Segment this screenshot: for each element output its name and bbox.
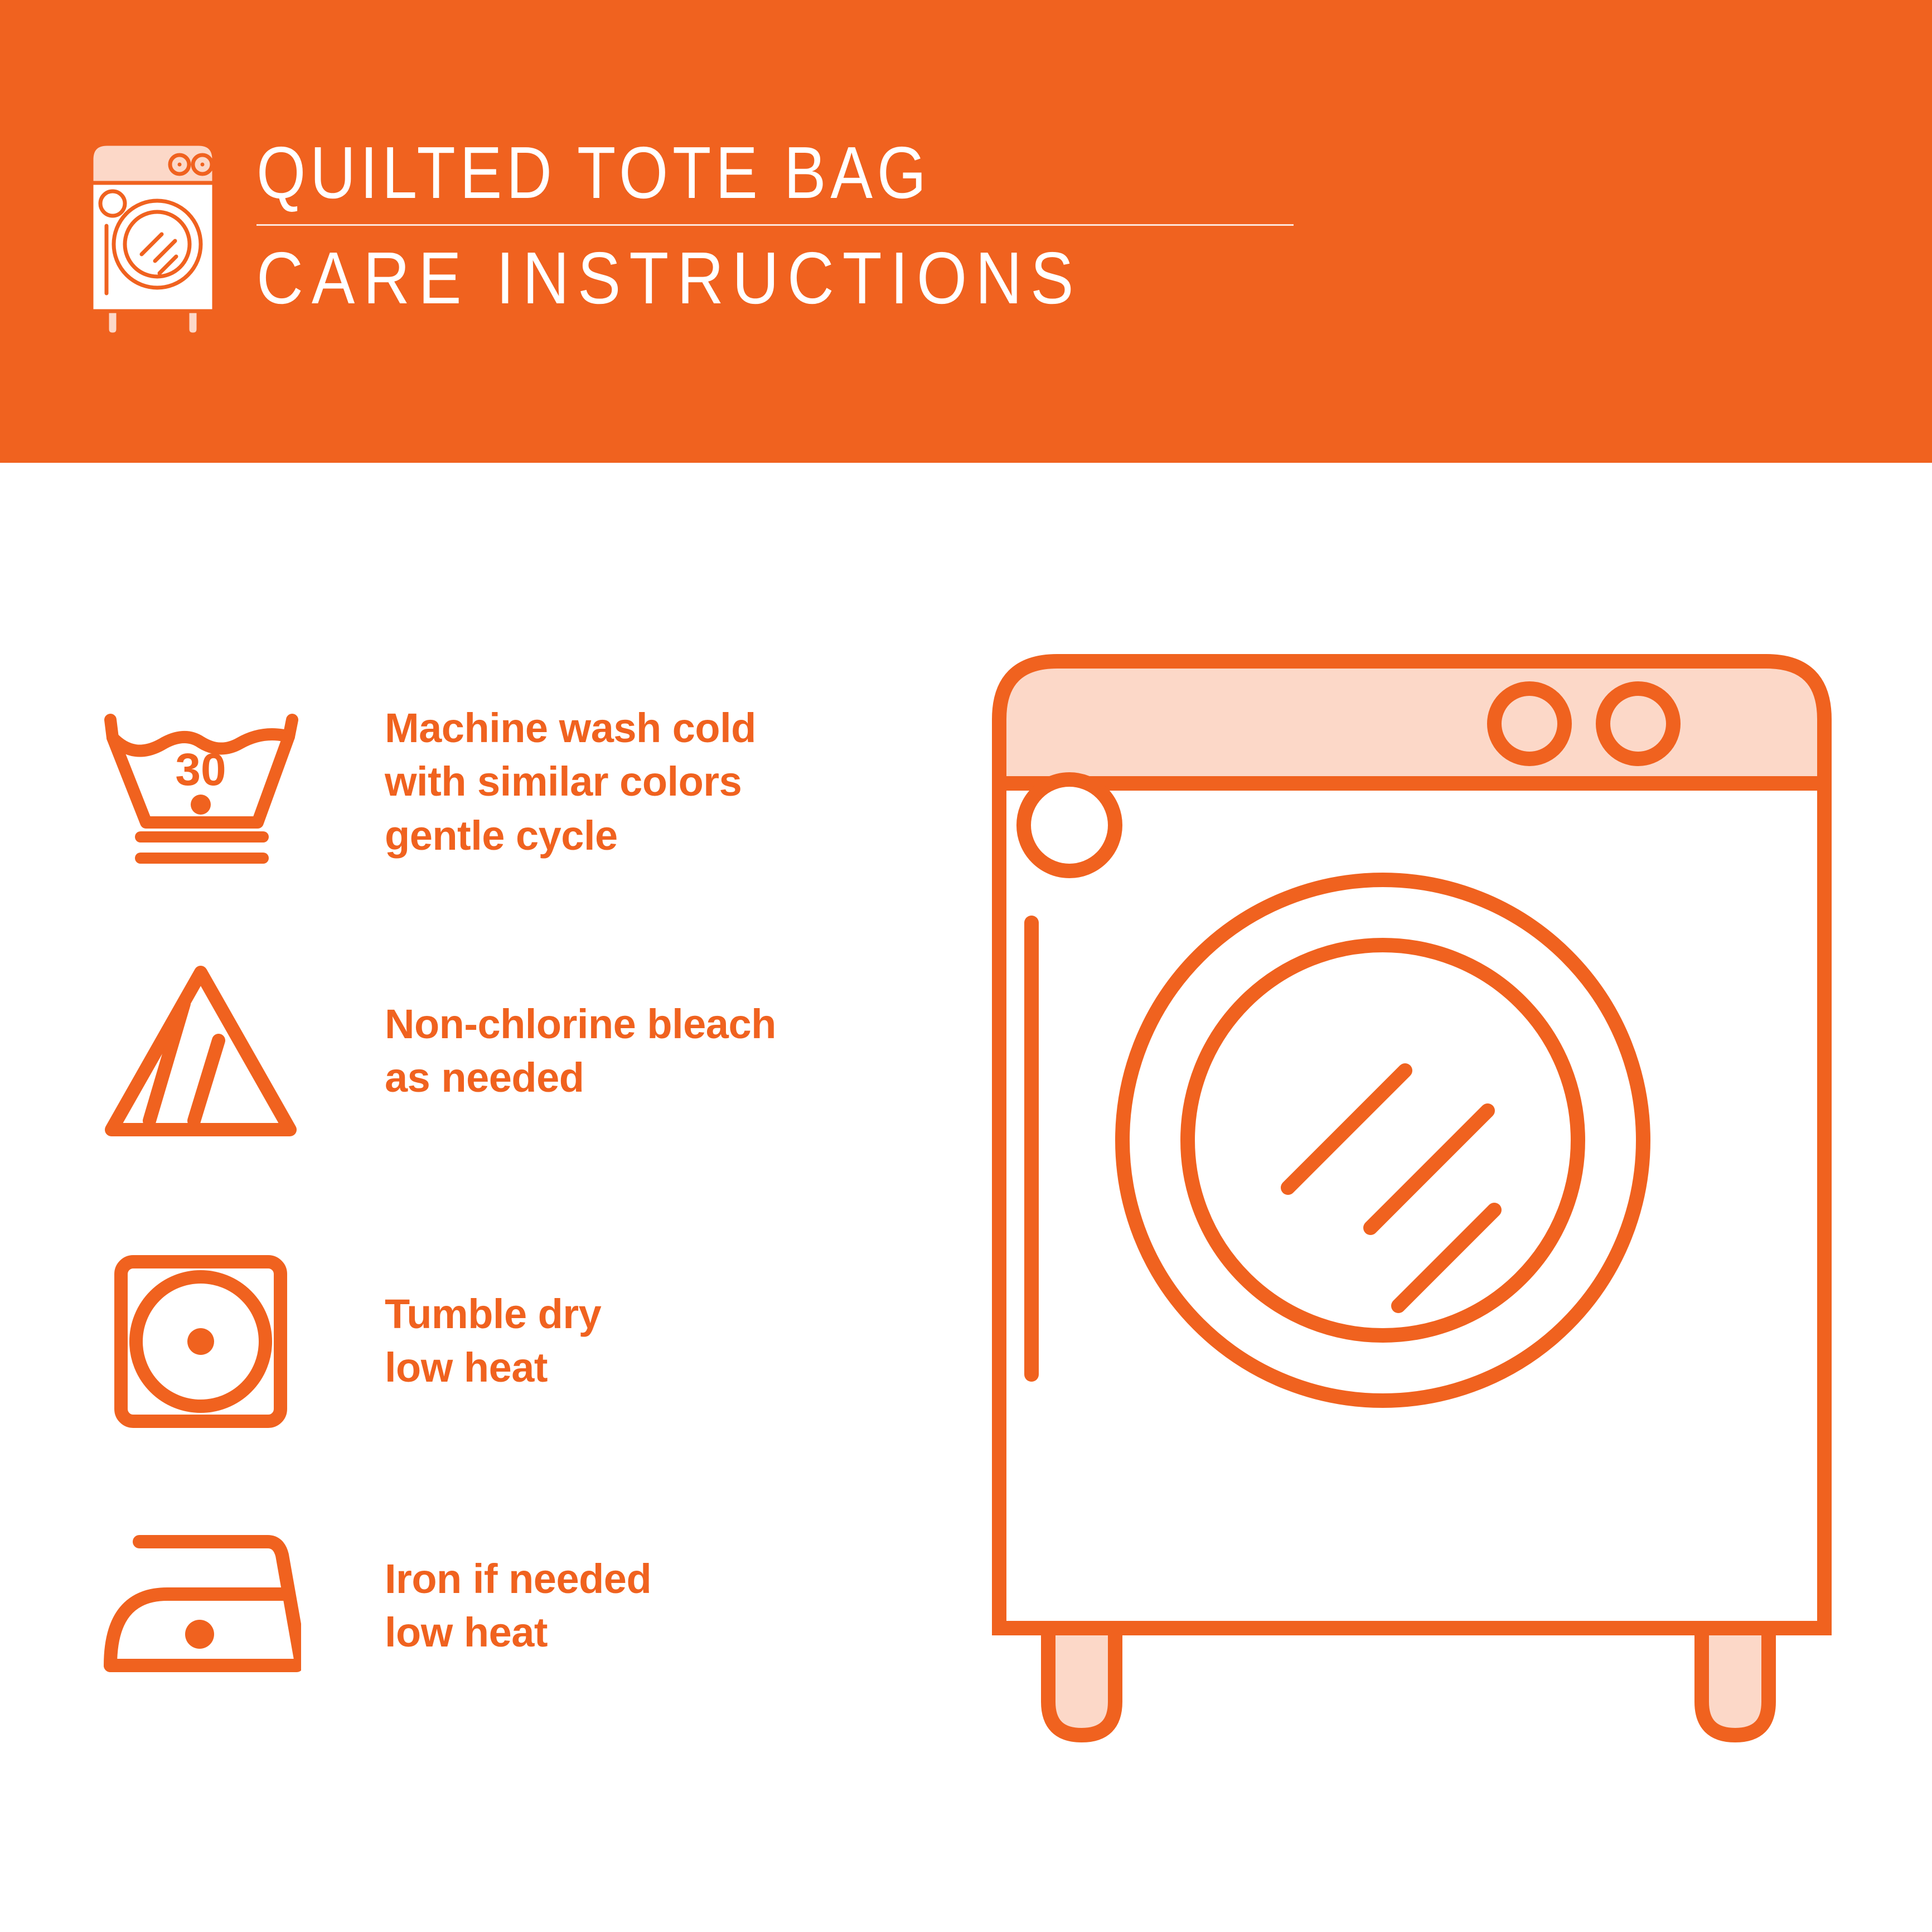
care-line: Non-chlorine bleach [385,998,926,1051]
detergent-dial [1024,779,1115,871]
title-divider [256,224,1294,226]
washing-machine-icon [84,133,234,339]
care-item-label: Machine wash cold with similar colors ge… [312,701,926,863]
care-instruction-list: 30 Machine wash cold with similar colors… [89,658,926,1726]
header-banner: QUILTED TOTE BAG CARE INSTRUCTIONS [0,0,1932,463]
control-knob-left [1494,689,1565,759]
care-item-bleach: Non-chlorine bleach as needed [89,906,926,1196]
care-item-label: Iron if needed low heat [312,1552,926,1659]
wash-tub-30-gentle-icon: 30 [89,682,312,883]
care-item-machine-wash: 30 Machine wash cold with similar colors… [89,658,926,906]
care-line: Tumble dry [385,1287,926,1341]
page-subtitle: CARE INSTRUCTIONS [256,241,1208,315]
care-line: Machine wash cold [385,701,926,755]
care-line: gentle cycle [385,809,926,863]
care-line: low heat [385,1606,926,1659]
leg-right [1702,1628,1769,1735]
header-title-block: QUILTED TOTE BAG CARE INSTRUCTIONS [256,133,1338,315]
care-item-label: Non-chlorine bleach as needed [312,998,926,1105]
top-control-panel [999,661,1824,783]
iron-low-heat-icon [89,1505,312,1706]
leg-left [1048,1628,1115,1735]
header-content: QUILTED TOTE BAG CARE INSTRUCTIONS [84,133,1338,372]
care-item-iron: Iron if needed low heat [89,1486,926,1726]
front-load-washing-machine-illustration [970,630,1873,1840]
page-title: QUILTED TOTE BAG [256,136,1187,210]
care-line: with similar colors [385,755,926,808]
wash-temperature-value: 30 [175,744,226,795]
tumble-dry-low-heat-icon [89,1241,312,1441]
non-chlorine-bleach-triangle-icon [89,951,312,1151]
control-knob-right [1603,689,1673,759]
care-item-tumble-dry: Tumble dry low heat [89,1196,926,1486]
care-line: Iron if needed [385,1552,926,1606]
care-line: as needed [385,1051,926,1105]
care-item-label: Tumble dry low heat [312,1287,926,1394]
care-line: low heat [385,1341,926,1394]
